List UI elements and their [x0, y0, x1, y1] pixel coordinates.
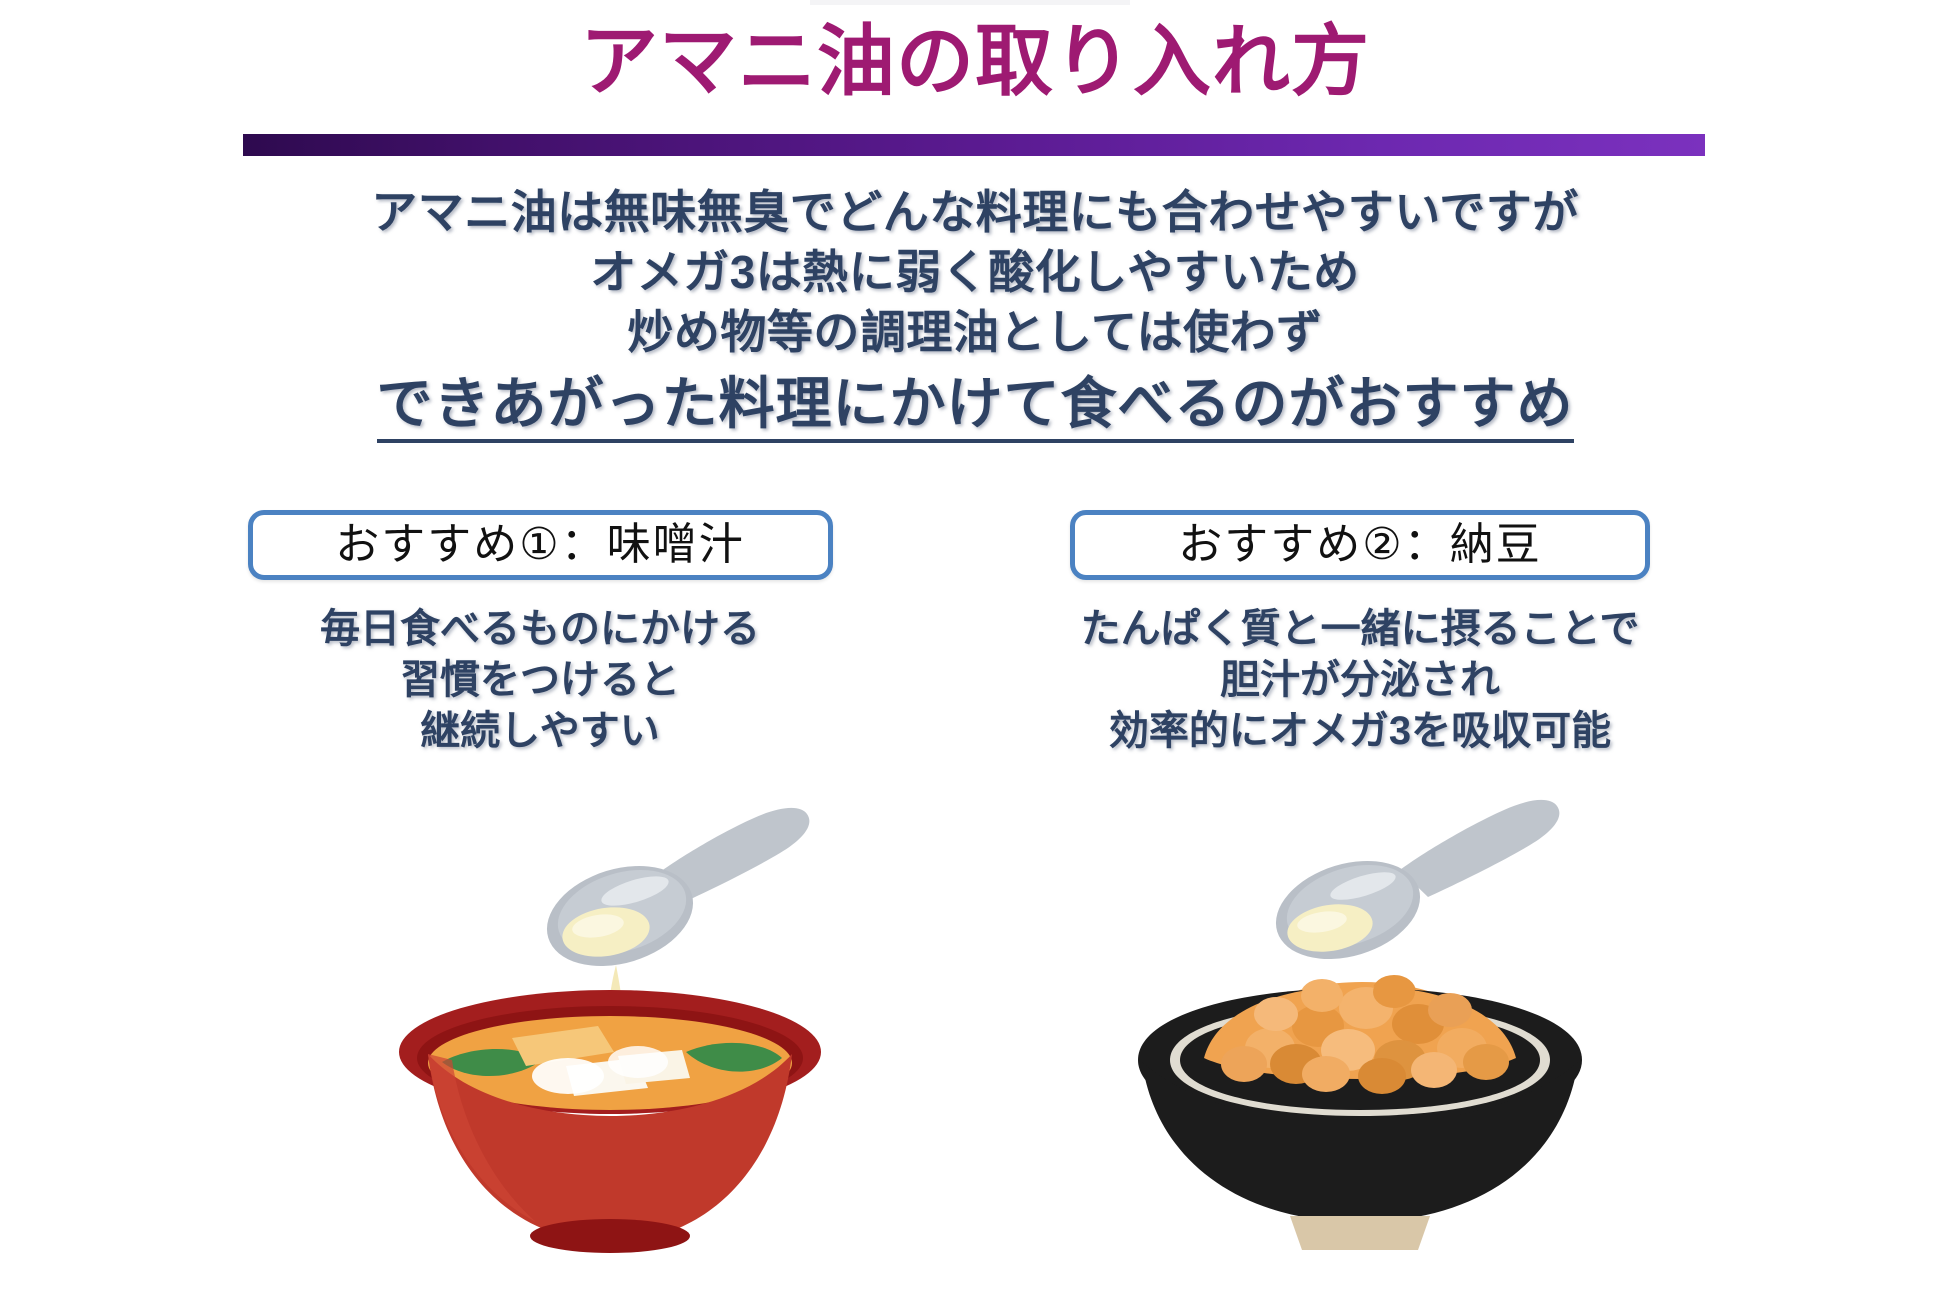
recommendation-2-description: たんぱく質と一緒に摂ることで 胆汁が分泌され 効率的にオメガ3を吸収可能 [1010, 604, 1710, 758]
recommendation-column-2: おすすめ②：納豆 たんぱく質と一緒に摂ることで 胆汁が分泌され 効率的にオメガ3… [1010, 510, 1710, 758]
recommendation-2-desc-line-3: 効率的にオメガ3を吸収可能 [1010, 706, 1710, 757]
title-underline-bar [243, 134, 1705, 156]
intro-line-3: 炒め物等の調理油としては使わず [0, 303, 1950, 363]
miso-bowl [399, 990, 821, 1253]
slide-root: アマニ油の取り入れ方 アマニ油は無味無臭でどんな料理にも合わせやすいですが オメ… [0, 0, 1950, 1300]
recommendation-1-description: 毎日食べるものにかける 習慣をつけると 継続しやすい [190, 604, 890, 758]
recommendation-1-desc-line-1: 毎日食べるものにかける [190, 604, 890, 655]
miso-soup-illustration [330, 760, 890, 1260]
recommendation-1-heading-label: おすすめ①：味噌汁 [335, 523, 744, 567]
natto-illustration [1100, 760, 1620, 1260]
natto-bowl [1138, 975, 1582, 1250]
intro-line-4-emphasized: できあがった料理にかけて食べるのがおすすめ [0, 368, 1950, 441]
recommendation-1-desc-line-2: 習慣をつけると [190, 655, 890, 706]
top-edge-strip [810, 0, 1130, 5]
recommendation-2-desc-line-2: 胆汁が分泌され [1010, 655, 1710, 706]
intro-line-4-text: できあがった料理にかけて食べるのがおすすめ [377, 372, 1574, 443]
recommendation-column-1: おすすめ①：味噌汁 毎日食べるものにかける 習慣をつけると 継続しやすい [190, 510, 890, 758]
intro-line-2: オメガ3は熱に弱く酸化しやすいため [0, 243, 1950, 303]
page-title: アマニ油の取り入れ方 [0, 18, 1950, 105]
recommendation-2-heading-label: おすすめ②：納豆 [1178, 523, 1541, 567]
recommendation-1-heading-box[interactable]: おすすめ①：味噌汁 [248, 510, 833, 580]
recommendation-2-heading-box[interactable]: おすすめ②：納豆 [1070, 510, 1650, 580]
bowl-foot [530, 1219, 690, 1253]
intro-line-1: アマニ油は無味無臭でどんな料理にも合わせやすいですが [0, 183, 1950, 243]
spoon-icon [1264, 800, 1560, 976]
intro-paragraph: アマニ油は無味無臭でどんな料理にも合わせやすいですが オメガ3は熱に弱く酸化しや… [0, 183, 1950, 441]
spoon-icon [535, 808, 810, 983]
recommendation-2-desc-line-1: たんぱく質と一緒に摂ることで [1010, 604, 1710, 655]
bowl-foot [1290, 1216, 1430, 1250]
recommendation-1-desc-line-3: 継続しやすい [190, 706, 890, 757]
